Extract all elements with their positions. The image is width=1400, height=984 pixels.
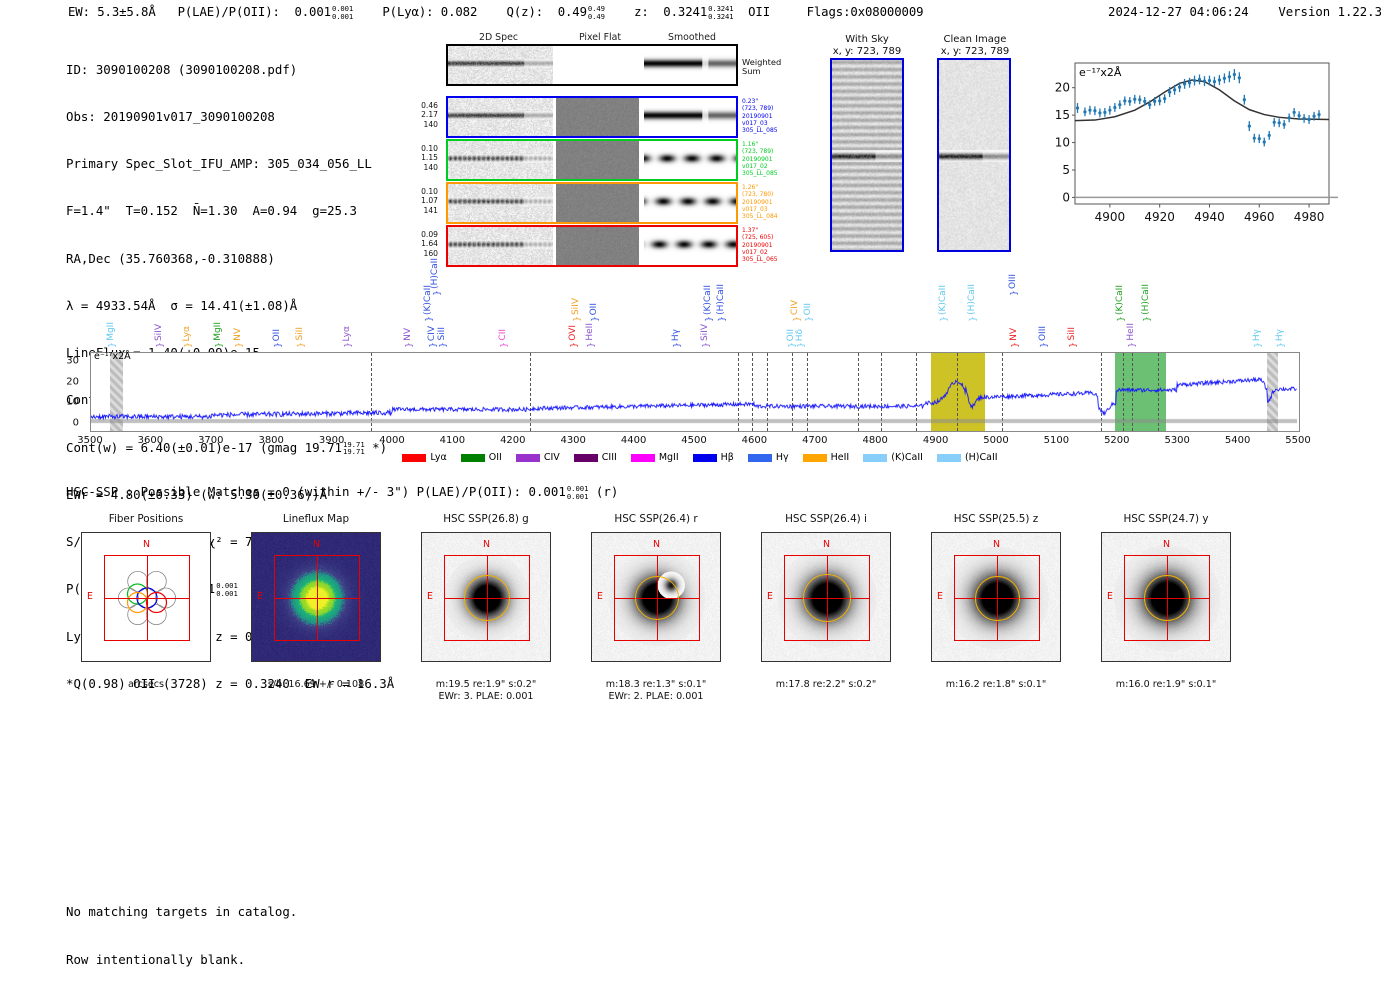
- fiber-meta-value: v017_03: [742, 120, 802, 127]
- spectrum-x-tick: 3500: [77, 435, 102, 446]
- fiber-stat-value: 0.09: [404, 230, 438, 239]
- weighted-sum-label: Weighted Sum: [742, 58, 781, 77]
- fiber-meta: 1.37"(725, 605)20190901v017_02305_LL_065: [742, 227, 802, 263]
- spectrum-line-labels: MgII{SiIV{Lyα{MgII{NV{OII{SiII{Lyα{NV{(K…: [90, 268, 1300, 352]
- hsc-ssp-header: HSC-SSP : Possible Matches = 0 (within +…: [66, 484, 618, 500]
- line-label-brace: {: [568, 342, 578, 348]
- compass-north: N: [993, 539, 1000, 550]
- spectrum-x-tick: 4900: [923, 435, 948, 446]
- fiber-stat-value: 0.10: [404, 144, 438, 153]
- source-ellipse: [803, 574, 851, 622]
- info-id: ID: 3090100208 (3090100208.pdf): [66, 62, 394, 78]
- source-ellipse: [464, 575, 510, 621]
- legend-swatch: [937, 454, 961, 462]
- line-label-brace: {: [795, 342, 805, 348]
- fiber-stat-value: 140: [404, 120, 438, 129]
- line-label-brace: {: [1038, 342, 1048, 348]
- spectrum-x-tick: 3700: [198, 435, 223, 446]
- info-radec: RA,Dec (35.760368,-0.310888): [66, 251, 394, 267]
- spec2d-montage: 2D Spec Pixel Flat Smoothed 0.462.171400…: [440, 32, 770, 257]
- line-label-brace: {: [1126, 342, 1136, 348]
- footer-message: No matching targets in catalog. Row inte…: [66, 872, 297, 984]
- legend-label: (H)CaII: [965, 452, 998, 463]
- fiber-meta: 0.23"(723, 789)20190901v017_03305_LL_085: [742, 98, 802, 134]
- flags-value: Flags:0x08000009: [807, 5, 924, 19]
- line-label-brace: {: [716, 316, 726, 322]
- spectrum-x-tick: 4800: [862, 435, 887, 446]
- compass-north: N: [143, 539, 150, 550]
- cutout-panel[interactable]: HSC SSP(26.8) g-4-2024-4-2024NEm:19.5 re…: [402, 512, 570, 702]
- legend-entry: (K)CaII: [863, 452, 923, 463]
- cutout-clean-image: Clean Image x, y: 723, 789: [925, 34, 1025, 256]
- line-label-brace: {: [938, 316, 948, 322]
- cutout-panel[interactable]: HSC SSP(24.7) y-4-2024-4-2024NEm:16.0 re…: [1082, 512, 1250, 691]
- line-label-brace: {: [1009, 342, 1019, 348]
- line-label-brace: {: [1008, 290, 1018, 296]
- cutout-panel[interactable]: HSC SSP(25.5) z-4-2024-4-2024NEm:16.2 re…: [912, 512, 1080, 691]
- full-spectrum-panel: 0102030 e⁻¹⁷x2Å: [90, 352, 1300, 432]
- cutout-panel-title: HSC SSP(26.4) r: [572, 512, 740, 526]
- legend-swatch: [863, 454, 887, 462]
- fiber-meta-value: v017_02: [742, 249, 802, 256]
- fiber-stat-value: 1.15: [404, 153, 438, 162]
- legend-label: CIV: [544, 452, 560, 463]
- legend-swatch: [516, 454, 540, 462]
- compass-east: E: [1107, 591, 1113, 602]
- spectrum-x-tick: 4000: [379, 435, 404, 446]
- line-label-brace: {: [1067, 342, 1077, 348]
- qz-label: Q(z):: [507, 5, 544, 19]
- line-label-text: (H)CaII: [1141, 284, 1151, 315]
- with-sky-image: [830, 58, 904, 252]
- fiber-meta: 1.26"(723, 780)20190901v017_03305_LL_084: [742, 184, 802, 220]
- legend-swatch: [748, 454, 772, 462]
- spectrum-x-tick: 4200: [500, 435, 525, 446]
- line-label-text: CIV: [427, 326, 437, 341]
- fiber-meta-value: (723, 789): [742, 148, 802, 155]
- spec2d-cell: [448, 141, 553, 179]
- line-label-brace: {: [233, 342, 243, 348]
- hsc-filter: (r): [596, 484, 618, 499]
- cutout-axes[interactable]: -4-2024-4-2024NE: [421, 532, 551, 662]
- cutout-panel-title: Fiber Positions: [62, 512, 230, 526]
- line-label-brace: {: [790, 316, 800, 322]
- fiber-row: [446, 96, 738, 138]
- cutout-caption-secondary: EWr: 2. PLAE: 0.001: [572, 691, 740, 703]
- cutout-panel-row: Fiber Positions-4-2024-4-2024NEarcsecsLi…: [0, 512, 1400, 727]
- with-sky-coords: x, y: 723, 789: [820, 46, 914, 58]
- cutout-axes[interactable]: -4-2024-4-2024NE: [761, 532, 891, 662]
- line-label-text: MgII: [106, 322, 116, 341]
- legend-swatch: [693, 454, 717, 462]
- legend-swatch: [803, 454, 827, 462]
- pixelflat-cell: [556, 46, 639, 84]
- line-label-brace: {: [342, 342, 352, 348]
- fiber-stat-value: 160: [404, 249, 438, 258]
- fiber-stats: 0.091.64160: [404, 230, 438, 258]
- line-label-brace: {: [1275, 342, 1285, 348]
- line-label-text: OVI: [568, 325, 578, 341]
- cutout-axes[interactable]: -4-2024-4-2024NE: [591, 532, 721, 662]
- legend-entry: OII: [461, 452, 502, 463]
- fiber-meta-value: 305_LL_084: [742, 213, 802, 220]
- pixelflat-cell: [556, 184, 639, 222]
- line-label-brace: {: [403, 342, 413, 348]
- spectrum-x-tick: 5100: [1044, 435, 1069, 446]
- line-label-text: CII: [498, 329, 508, 341]
- footer-line-2: Row intentionally blank.: [66, 952, 297, 968]
- fiber-meta-value: 1.37": [742, 227, 802, 234]
- line-label-text: OII: [589, 303, 599, 315]
- line-label-text: SiIV: [700, 324, 710, 341]
- line-fit-canvas: [1040, 52, 1340, 250]
- line-label-text: Hγ: [1275, 329, 1285, 341]
- crosshair-vertical: [147, 555, 148, 641]
- spectrum-y-tick: 10: [66, 397, 79, 408]
- line-label-brace: {: [1141, 316, 1151, 322]
- pixelflat-cell: [556, 98, 639, 136]
- plya-value: P(Lyα): 0.082: [382, 5, 477, 19]
- line-label-text: HeII: [585, 323, 595, 341]
- line-label-text: SiIV: [154, 324, 164, 341]
- cutout-panel-title: HSC SSP(25.5) z: [912, 512, 1080, 526]
- cutout-caption-primary: arcsecs: [62, 679, 230, 691]
- line-label-brace: {: [423, 316, 433, 322]
- spectrum-x-tick: 5200: [1104, 435, 1129, 446]
- line-label-text: Lyα: [342, 326, 352, 341]
- line-label-text: CIV: [790, 300, 800, 315]
- line-label-text: Hγ: [1252, 329, 1262, 341]
- fiber-stats: 0.101.07141: [404, 187, 438, 215]
- line-label-text: OII: [272, 329, 282, 341]
- compass-north: N: [653, 539, 660, 550]
- compass-north: N: [313, 539, 320, 550]
- line-label-text: OII: [803, 303, 813, 315]
- spectrum-x-tick: 3900: [319, 435, 344, 446]
- fiber-meta-value: v017_02: [742, 163, 802, 170]
- legend-swatch: [574, 454, 598, 462]
- qz-lower: 0.49: [588, 13, 605, 21]
- cutout-axes[interactable]: -4-2024-4-2024NE: [81, 532, 211, 662]
- line-label-text: (H)CaII: [967, 284, 977, 315]
- compass-north: N: [823, 539, 830, 550]
- spectrum-x-axis: 3500360037003800390040004100420043004400…: [90, 432, 1300, 454]
- fiber-meta-value: 305_LL_085: [742, 170, 802, 177]
- spectrum-trace: [91, 353, 1299, 431]
- line-label-text: NV: [403, 328, 413, 341]
- legend-label: (K)CaII: [891, 452, 923, 463]
- line-label-brace: {: [571, 316, 581, 322]
- legend-swatch: [402, 454, 426, 462]
- line-label-brace: {: [967, 316, 977, 322]
- clean-image-title: Clean Image: [925, 34, 1025, 46]
- spectrum-x-tick: 5400: [1225, 435, 1250, 446]
- compass-east: E: [87, 591, 93, 602]
- spec2d-cell: [448, 98, 553, 136]
- spectrum-x-tick: 4400: [621, 435, 646, 446]
- spectrum-x-tick: 4500: [681, 435, 706, 446]
- smoothed-cell: [644, 227, 736, 265]
- smoothed-cell: [644, 141, 736, 179]
- legend-entry: CIV: [516, 452, 560, 463]
- fiber-meta-value: 305_LL_065: [742, 256, 802, 263]
- compass-east: E: [257, 591, 263, 602]
- fiber-stat-value: 1.07: [404, 196, 438, 205]
- line-label-text: MgII: [213, 322, 223, 341]
- spectrum-x-tick: 4600: [742, 435, 767, 446]
- spectrum-y-tick: 30: [66, 356, 79, 367]
- cutout-axes[interactable]: -4-2024-4-2024NE: [251, 532, 381, 662]
- pixelflat-cell: [556, 141, 639, 179]
- line-label-text: Hγ: [671, 329, 681, 341]
- line-label-text: HeII: [1126, 323, 1136, 341]
- plae-value: 0.001: [294, 5, 331, 19]
- line-label-brace: {: [182, 342, 192, 348]
- clean-image-coords: x, y: 723, 789: [925, 46, 1025, 58]
- crosshair-vertical: [317, 555, 318, 641]
- legend-entry: (H)CaII: [937, 452, 998, 463]
- legend-label: Lyα: [430, 452, 446, 463]
- fiber-stat-value: 0.46: [404, 101, 438, 110]
- info-seeing: F=1.4" T=0.152 N̄=1.30 A=0.94 g=25.3: [66, 203, 394, 219]
- line-label-brace: {: [430, 290, 440, 296]
- spectrum-x-tick: 3600: [138, 435, 163, 446]
- spec2d-cell: [448, 227, 553, 265]
- compass-east: E: [427, 591, 433, 602]
- fiber-meta-value: (725, 605): [742, 234, 802, 241]
- line-label-text: SiII: [1067, 327, 1077, 341]
- cutout-caption-primary: s/b: 16.69 +/- 0.108: [232, 679, 400, 691]
- line-label-text: SiII: [437, 327, 447, 341]
- header-timestamp-version: 2024-12-27 04:06:24 Version 1.22.3: [1108, 5, 1382, 19]
- cutout-panel[interactable]: Fiber Positions-4-2024-4-2024NEarcsecs: [62, 512, 230, 691]
- col-title-2dspec: 2D Spec: [446, 32, 551, 43]
- fiber-meta-value: 305_LL_085: [742, 127, 802, 134]
- cutout-caption-primary: m:16.0 re:1.9" s:0.1": [1082, 679, 1250, 691]
- spectrum-x-tick: 5300: [1164, 435, 1189, 446]
- fiber-meta-value: (723, 780): [742, 191, 802, 198]
- hsc-header-text: HSC-SSP : Possible Matches = 0 (within +…: [66, 484, 566, 499]
- cutout-caption-primary: m:19.5 re:1.9" s:0.2": [402, 679, 570, 691]
- fiber-row: [446, 225, 738, 267]
- line-label-brace: {: [295, 342, 305, 348]
- legend-swatch: [461, 454, 485, 462]
- line-label-brace: {: [803, 316, 813, 322]
- line-label-text: (K)CaII: [938, 285, 948, 315]
- cutout-panel[interactable]: Lineflux Map-4-2024-4-2024NEs/b: 16.69 +…: [232, 512, 400, 691]
- fiber-row: [446, 182, 738, 224]
- cutout-panel[interactable]: HSC SSP(26.4) r-4-2024-4-2024NEm:18.3 re…: [572, 512, 740, 702]
- cutout-caption-primary: m:17.8 re:2.2" s:0.2": [742, 679, 910, 691]
- spectrum-x-tick: 3800: [258, 435, 283, 446]
- compass-north: N: [1163, 539, 1170, 550]
- timestamp: 2024-12-27 04:06:24: [1108, 5, 1249, 19]
- spectrum-flux-unit: e⁻¹⁷x2Å: [94, 351, 131, 362]
- legend-label: Hγ: [776, 452, 789, 463]
- line-label-text: Hδ: [795, 329, 805, 341]
- smoothed-cell: [644, 46, 736, 84]
- line-label-brace: {: [671, 342, 681, 348]
- compass-north: N: [483, 539, 490, 550]
- legend-label: OII: [489, 452, 502, 463]
- z-label: z:: [634, 5, 649, 19]
- ew-value: EW: 5.3±5.8Å: [68, 5, 156, 19]
- legend-label: CIII: [602, 452, 617, 463]
- z-type: OII: [748, 5, 770, 19]
- compass-east: E: [767, 591, 773, 602]
- line-label-brace: {: [703, 316, 713, 322]
- line-label-text: (H)CaII: [716, 284, 726, 315]
- fiber-meta-value: 0.23": [742, 98, 802, 105]
- info-obs: Obs: 20190901v017_3090100208: [66, 109, 394, 125]
- line-label-brace: {: [498, 342, 508, 348]
- spectrum-legend: LyαOIICIVCIIIMgIIHβHγHeII(K)CaII(H)CaII: [0, 452, 1400, 463]
- line-label-brace: {: [1115, 316, 1125, 322]
- cutout-panel[interactable]: HSC SSP(26.4) i-4-2024-4-2024NEm:17.8 re…: [742, 512, 910, 691]
- compass-east: E: [937, 591, 943, 602]
- col-title-pixelflat: Pixel Flat: [554, 32, 646, 43]
- source-ellipse: [975, 576, 1020, 621]
- spec2d-cell: [448, 46, 553, 84]
- fiber-stat-value: 140: [404, 163, 438, 172]
- spectrum-x-tick: 4300: [560, 435, 585, 446]
- line-label-text: OIII: [1038, 326, 1048, 341]
- smoothed-cell: [644, 184, 736, 222]
- fiber-stats: 0.101.15140: [404, 144, 438, 172]
- source-ellipse: [1144, 575, 1190, 621]
- fiber-stat-value: 2.17: [404, 110, 438, 119]
- smoothed-cell: [644, 98, 736, 136]
- header-summary-line: EW: 5.3±5.8Å P(LAE)/P(OII): 0.0010.0010.…: [68, 5, 923, 20]
- fiber-stat-value: 141: [404, 206, 438, 215]
- fiber-meta-value: 20190901: [742, 242, 802, 249]
- fiber-stat-value: 0.10: [404, 187, 438, 196]
- legend-entry: MgII: [631, 452, 679, 463]
- line-label-brace: {: [589, 316, 599, 322]
- legend-entry: Lyα: [402, 452, 446, 463]
- legend-entry: Hβ: [693, 452, 734, 463]
- z-value: 0.3241: [663, 5, 707, 19]
- cutout-with-sky: With Sky x, y: 723, 789: [820, 34, 914, 256]
- legend-entry: CIII: [574, 452, 617, 463]
- spectrum-y-tick: 0: [73, 417, 79, 428]
- compass-east: E: [597, 591, 603, 602]
- spectrum-x-tick: 5000: [983, 435, 1008, 446]
- fiber-meta-value: v017_03: [742, 206, 802, 213]
- line-label-brace: {: [1252, 342, 1262, 348]
- line-label-brace: {: [272, 342, 282, 348]
- cutout-caption-primary: m:18.3 re:1.3" s:0.1": [572, 679, 740, 691]
- hsc-plae-lower: 0.001: [567, 493, 589, 500]
- fiber-row: [446, 139, 738, 181]
- pixelflat-cell: [556, 227, 639, 265]
- legend-label: Hβ: [721, 452, 734, 463]
- legend-swatch: [631, 454, 655, 462]
- weighted-sum-row: [446, 44, 738, 86]
- line-label-brace: {: [154, 342, 164, 348]
- legend-label: MgII: [659, 452, 679, 463]
- plae-lower: 0.001: [332, 13, 353, 21]
- fiber-meta-value: 20190901: [742, 199, 802, 206]
- fiber-meta-value: 1.16": [742, 141, 802, 148]
- fiber-meta-value: 20190901: [742, 113, 802, 120]
- cutout-panel-title: HSC SSP(24.7) y: [1082, 512, 1250, 526]
- footer-line-1: No matching targets in catalog.: [66, 904, 297, 920]
- line-label-text: NV: [233, 328, 243, 341]
- qz-value: 0.49: [558, 5, 587, 19]
- cutout-panel-title: Lineflux Map: [232, 512, 400, 526]
- line-label-brace: {: [213, 342, 223, 348]
- spectrum-x-tick: 5500: [1285, 435, 1310, 446]
- legend-entry: Hγ: [748, 452, 789, 463]
- legend-label: HeII: [831, 452, 850, 463]
- spec2d-cell: [448, 184, 553, 222]
- line-label-text: OIII: [1008, 274, 1018, 289]
- fiber-meta: 1.16"(723, 789)20190901v017_02305_LL_085: [742, 141, 802, 177]
- line-fit-plot: [1040, 52, 1340, 250]
- fiber-meta-value: 1.26": [742, 184, 802, 191]
- fiber-meta-value: (723, 789): [742, 105, 802, 112]
- clean-image-canvas: [937, 58, 1011, 252]
- line-label-text: Lyα: [182, 326, 192, 341]
- line-label-brace: {: [584, 342, 594, 348]
- fiber-stat-value: 1.64: [404, 239, 438, 248]
- legend-entry: HeII: [803, 452, 850, 463]
- cutout-axes[interactable]: -4-2024-4-2024NE: [1101, 532, 1231, 662]
- spectrum-x-tick: 4100: [440, 435, 465, 446]
- info-primary: Primary Spec_Slot_IFU_AMP: 305_034_056_L…: [66, 156, 394, 172]
- cutout-caption-secondary: EWr: 3. PLAE: 0.001: [402, 691, 570, 703]
- cutout-panel-title: HSC SSP(26.4) i: [742, 512, 910, 526]
- line-label-brace: {: [437, 342, 447, 348]
- line-label-brace: {: [106, 342, 116, 348]
- cutout-axes[interactable]: -4-2024-4-2024NE: [931, 532, 1061, 662]
- line-label-text: SiIV: [571, 298, 581, 315]
- fiber-meta-value: 20190901: [742, 156, 802, 163]
- cutout-panel-title: HSC SSP(26.8) g: [402, 512, 570, 526]
- line-label-brace: {: [427, 342, 437, 348]
- line-label-text: (H)CaII: [430, 258, 440, 289]
- fiber-stats: 0.462.17140: [404, 101, 438, 129]
- col-title-smoothed: Smoothed: [646, 32, 738, 43]
- source-ellipse: [635, 576, 679, 620]
- plae-label: P(LAE)/P(OII):: [178, 5, 280, 19]
- line-label-text: (K)CaII: [1115, 285, 1125, 315]
- version-label: Version 1.22.3: [1278, 5, 1382, 19]
- spectrum-x-tick: 4700: [802, 435, 827, 446]
- with-sky-title: With Sky: [820, 34, 914, 46]
- line-label-text: (K)CaII: [703, 285, 713, 315]
- spectrum-y-tick: 20: [66, 376, 79, 387]
- cutout-caption-primary: m:16.2 re:1.8" s:0.1": [912, 679, 1080, 691]
- z-lower: 0.3241: [708, 13, 733, 21]
- line-label-brace: {: [700, 342, 710, 348]
- line-label-text: NV: [1009, 328, 1019, 341]
- line-label-text: SiII: [295, 327, 305, 341]
